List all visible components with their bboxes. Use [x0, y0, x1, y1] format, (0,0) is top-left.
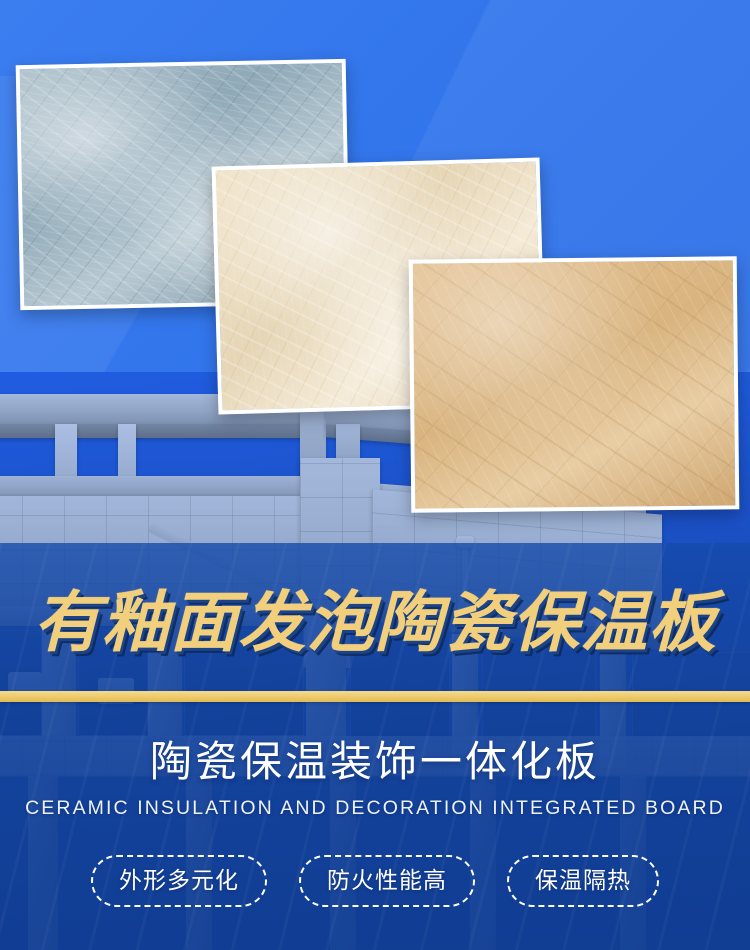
feature-pill-fire-resistance[interactable]: 防火性能高: [299, 855, 475, 907]
feature-pill-thermal-insulation[interactable]: 保温隔热: [507, 855, 659, 907]
subtitle-chinese: 陶瓷保温装饰一体化板: [0, 736, 750, 788]
feature-pill-shape-diversity[interactable]: 外形多元化: [91, 855, 267, 907]
product-banner-poster: 有釉面发泡陶瓷保温板 陶瓷保温装饰一体化板 CERAMIC INSULATION…: [0, 0, 750, 950]
headline-title: 有釉面发泡陶瓷保温板: [0, 583, 750, 661]
subtitle-english: CERAMIC INSULATION AND DECORATION INTEGR…: [0, 796, 750, 820]
feature-pill-group: 外形多元化 防火性能高 保温隔热: [0, 855, 750, 907]
gold-divider-bar: [0, 691, 750, 702]
product-sample-tile-3[interactable]: [409, 256, 740, 512]
